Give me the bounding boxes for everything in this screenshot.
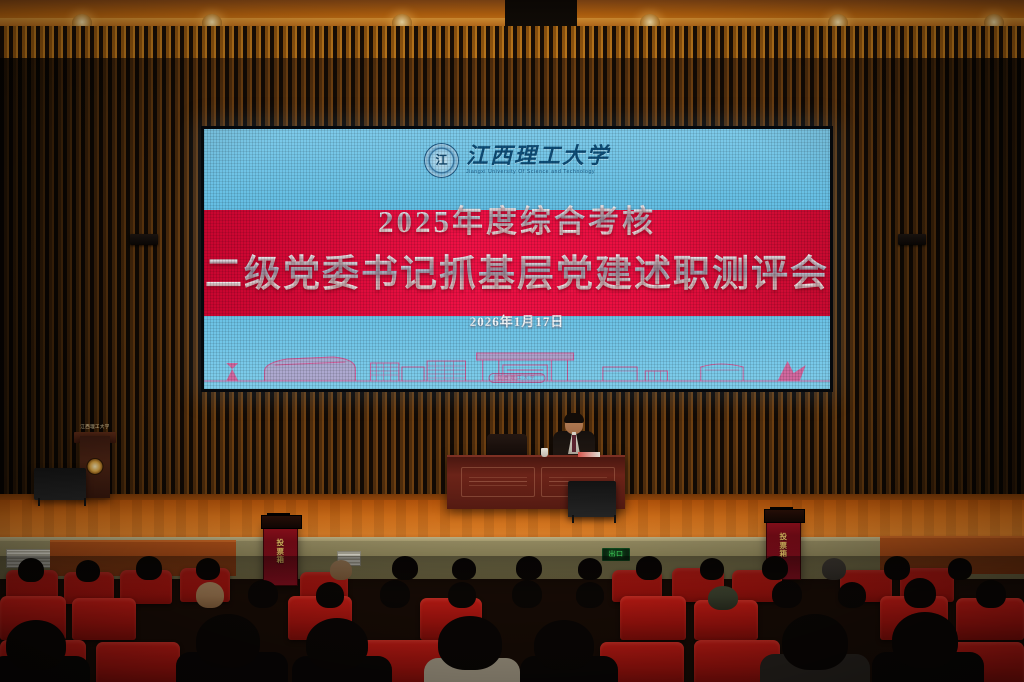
upper-slat-band: [0, 26, 1024, 62]
university-name-en: Jiangxi University Of Science and Techno…: [466, 170, 610, 175]
audience-head: [196, 614, 260, 668]
stage-monitor-left-stand: [38, 498, 86, 506]
led-screen: 江 江西理工大学 Jiangxi University Of Science a…: [201, 126, 833, 392]
ballot-slot: [267, 513, 290, 515]
audience-head: [512, 580, 542, 608]
screen-date: 2026年1月17日: [470, 311, 565, 330]
seat: [620, 596, 686, 640]
screen-title-line2: 二级党委书记抓基层党建述职测评会: [205, 243, 829, 297]
lectern-nameplate: 江西理工大学: [74, 421, 116, 432]
audience-head: [762, 556, 788, 580]
audience-head: [248, 580, 278, 608]
audience-head: [904, 578, 936, 608]
audience-head-with-cap: [708, 586, 738, 610]
audience-head: [516, 556, 542, 580]
audience-head: [700, 558, 724, 580]
audience-area: [0, 556, 1024, 682]
audience-head: [306, 618, 368, 670]
campus-skyline-graphic: 江西理工大学: [204, 337, 830, 385]
university-logo-text: 江西理工大学 Jiangxi University Of Science and…: [466, 145, 610, 175]
audience-head: [196, 582, 224, 608]
audience-head: [380, 580, 410, 608]
skyline-caption: 江西理工大学: [489, 373, 546, 383]
university-emblem-icon: [87, 458, 104, 475]
university-seal-icon: 江: [424, 143, 459, 178]
wall-speaker-right: [898, 234, 926, 245]
audience-head: [782, 614, 848, 670]
audience-head: [948, 558, 972, 580]
led-screen-content: 江 江西理工大学 Jiangxi University Of Science a…: [204, 129, 830, 389]
speaker-tie: [572, 435, 576, 452]
audience-head: [822, 558, 846, 580]
audience-head: [578, 558, 602, 580]
audience-head: [448, 582, 476, 608]
audience-head: [6, 620, 66, 670]
audience-head: [576, 582, 604, 608]
table-panel: [461, 467, 535, 497]
ballot-slot: [770, 507, 793, 509]
seat: [72, 598, 136, 640]
screen-title-line1: 2025年度综合考核: [378, 196, 656, 241]
audience-head: [452, 558, 476, 580]
audience-head: [772, 580, 802, 608]
audience-head: [76, 560, 100, 582]
stage-monitor-center-stand: [572, 515, 616, 523]
audience-head: [636, 556, 662, 580]
speaker-hair: [564, 413, 584, 423]
stage-monitor-left: [34, 468, 86, 500]
university-name-cn: 江西理工大学: [466, 145, 610, 167]
ballot-box-right-label: 投 票 箱: [767, 533, 800, 559]
audience-head: [438, 616, 502, 670]
ballot-box-lid: [764, 509, 805, 523]
seat: [96, 642, 180, 682]
audience-head: [330, 560, 352, 580]
ballot-box-lid: [261, 515, 302, 529]
audience-head: [884, 556, 910, 580]
audience-head: [534, 620, 594, 670]
audience-head: [136, 556, 162, 580]
audience-head: [838, 582, 866, 608]
wall-speaker-left: [130, 234, 158, 245]
wall-shadow-right: [824, 58, 1024, 508]
audience-head: [892, 612, 958, 668]
documents-on-table: [578, 452, 600, 457]
stage-monitor-center: [568, 481, 616, 517]
tea-cup: [541, 448, 548, 457]
screen-title-block: 2025年度综合考核 二级党委书记抓基层党建述职测评会 2026年1月17日: [204, 210, 830, 317]
auditorium-photo: 江 江西理工大学 Jiangxi University Of Science a…: [0, 0, 1024, 682]
university-logo: 江 江西理工大学 Jiangxi University Of Science a…: [204, 137, 830, 183]
audience-head: [316, 582, 344, 608]
audience-head: [18, 558, 44, 582]
audience-head: [976, 580, 1006, 608]
audience-head: [392, 556, 418, 580]
audience-head: [196, 558, 220, 580]
